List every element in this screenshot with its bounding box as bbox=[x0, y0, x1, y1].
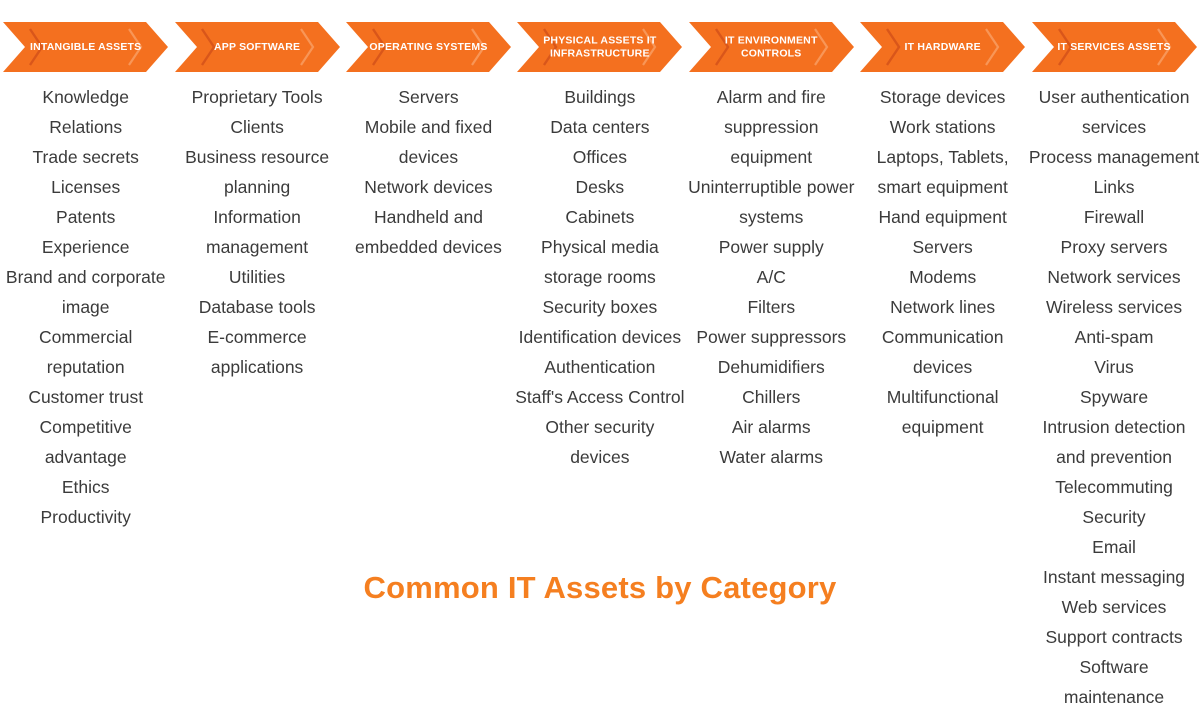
category-column: PHYSICAL ASSETS IT INFRASTRUCTUREBuildin… bbox=[514, 22, 685, 472]
list-item: Wireless services bbox=[1028, 292, 1199, 322]
list-item: Multifunctional equipment bbox=[857, 382, 1028, 442]
list-item: Physical media storage rooms bbox=[514, 232, 685, 292]
chevron-shape bbox=[346, 22, 511, 72]
list-item: Virus bbox=[1028, 352, 1199, 382]
category-item-list: BuildingsData centersOfficesDesksCabinet… bbox=[514, 82, 685, 472]
category-column: IT SERVICES ASSETSUser authentication se… bbox=[1028, 22, 1199, 712]
list-item: Competitive advantage bbox=[0, 412, 171, 472]
list-item: Alarm and fire suppression equipment bbox=[686, 82, 857, 172]
category-item-list: Proprietary ToolsClientsBusiness resourc… bbox=[171, 82, 342, 382]
list-item: Authentication bbox=[514, 352, 685, 382]
list-item: Modems bbox=[857, 262, 1028, 292]
list-item: Proxy servers bbox=[1028, 232, 1199, 262]
chevron-shape bbox=[175, 22, 340, 72]
category-header-chevron[interactable]: IT HARDWARE bbox=[860, 22, 1025, 72]
list-item: Trade secrets bbox=[0, 142, 171, 172]
list-item: Offices bbox=[514, 142, 685, 172]
page-title: Common IT Assets by Category bbox=[0, 570, 1200, 606]
list-item: Spyware bbox=[1028, 382, 1199, 412]
list-item: Air alarms bbox=[686, 412, 857, 442]
category-item-list: ServersMobile and fixed devicesNetwork d… bbox=[343, 82, 514, 262]
list-item: Other security devices bbox=[514, 412, 685, 472]
list-item: Firewall bbox=[1028, 202, 1199, 232]
list-item: Dehumidifiers bbox=[686, 352, 857, 382]
list-item: Security boxes bbox=[514, 292, 685, 322]
list-item: Experience bbox=[0, 232, 171, 262]
page-title-text: Common IT Assets by Category bbox=[364, 570, 837, 606]
list-item: Intrusion detection and prevention bbox=[1028, 412, 1199, 472]
category-item-list: User authentication servicesProcess mana… bbox=[1028, 82, 1199, 712]
list-item: Network services bbox=[1028, 262, 1199, 292]
category-header-chevron[interactable]: APP SOFTWARE bbox=[175, 22, 340, 72]
list-item: Desks bbox=[514, 172, 685, 202]
list-item: Laptops, Tablets, smart equipment bbox=[857, 142, 1028, 202]
list-item: Clients bbox=[171, 112, 342, 142]
category-header-chevron[interactable]: OPERATING SYSTEMS bbox=[346, 22, 511, 72]
list-item: Email bbox=[1028, 532, 1199, 562]
category-header-chevron[interactable]: IT ENVIRONMENT CONTROLS bbox=[689, 22, 854, 72]
list-item: Relations bbox=[0, 112, 171, 142]
list-item: Network lines bbox=[857, 292, 1028, 322]
list-item: E-commerce applications bbox=[171, 322, 342, 382]
chevron-shape bbox=[860, 22, 1025, 72]
list-item: Cabinets bbox=[514, 202, 685, 232]
list-item: Storage devices bbox=[857, 82, 1028, 112]
category-header-chevron[interactable]: INTANGIBLE ASSETS bbox=[3, 22, 168, 72]
list-item: Ethics bbox=[0, 472, 171, 502]
list-item: Data centers bbox=[514, 112, 685, 142]
list-item: Brand and corporate image bbox=[0, 262, 171, 322]
list-item: Uninterruptible power systems bbox=[686, 172, 857, 232]
list-item: Support contracts bbox=[1028, 622, 1199, 652]
chevron-shape bbox=[689, 22, 854, 72]
list-item: Database tools bbox=[171, 292, 342, 322]
list-item: Proprietary Tools bbox=[171, 82, 342, 112]
list-item: Servers bbox=[343, 82, 514, 112]
list-item: Links bbox=[1028, 172, 1199, 202]
category-column: APP SOFTWAREProprietary ToolsClientsBusi… bbox=[171, 22, 342, 382]
list-item: Anti-spam bbox=[1028, 322, 1199, 352]
list-item: Network devices bbox=[343, 172, 514, 202]
infographic-root: INTANGIBLE ASSETSKnowledgeRelationsTrade… bbox=[0, 0, 1200, 628]
category-column: IT HARDWAREStorage devicesWork stationsL… bbox=[857, 22, 1028, 442]
category-item-list: KnowledgeRelationsTrade secretsLicensesP… bbox=[0, 82, 171, 532]
category-column: OPERATING SYSTEMSServersMobile and fixed… bbox=[343, 22, 514, 262]
list-item: User authentication services bbox=[1028, 82, 1199, 142]
list-item: Identification devices bbox=[514, 322, 685, 352]
list-item: Water alarms bbox=[686, 442, 857, 472]
list-item: Buildings bbox=[514, 82, 685, 112]
list-item: Hand equipment bbox=[857, 202, 1028, 232]
list-item: Mobile and fixed devices bbox=[343, 112, 514, 172]
list-item: Security bbox=[1028, 502, 1199, 532]
list-item: Patents bbox=[0, 202, 171, 232]
list-item: Utilities bbox=[171, 262, 342, 292]
list-item: Staff's Access Control bbox=[514, 382, 685, 412]
category-item-list: Alarm and fire suppression equipmentUnin… bbox=[686, 82, 857, 472]
list-item: Work stations bbox=[857, 112, 1028, 142]
list-item: Process management bbox=[1028, 142, 1199, 172]
list-item: Productivity bbox=[0, 502, 171, 532]
category-header-chevron[interactable]: IT SERVICES ASSETS bbox=[1032, 22, 1197, 72]
list-item: Filters bbox=[686, 292, 857, 322]
chevron-shape bbox=[3, 22, 168, 72]
list-item: Customer trust bbox=[0, 382, 171, 412]
list-item: Communication devices bbox=[857, 322, 1028, 382]
list-item: Servers bbox=[857, 232, 1028, 262]
list-item: Handheld and embedded devices bbox=[343, 202, 514, 262]
category-item-list: Storage devicesWork stationsLaptops, Tab… bbox=[857, 82, 1028, 442]
list-item: Knowledge bbox=[0, 82, 171, 112]
list-item: Commercial reputation bbox=[0, 322, 171, 382]
chevron-shape bbox=[1032, 22, 1197, 72]
chevron-shape bbox=[517, 22, 682, 72]
list-item: A/C bbox=[686, 262, 857, 292]
list-item: Power suppressors bbox=[686, 322, 857, 352]
category-column: IT ENVIRONMENT CONTROLSAlarm and fire su… bbox=[686, 22, 857, 472]
category-column: INTANGIBLE ASSETSKnowledgeRelationsTrade… bbox=[0, 22, 171, 532]
list-item: Licenses bbox=[0, 172, 171, 202]
category-header-chevron[interactable]: PHYSICAL ASSETS IT INFRASTRUCTURE bbox=[517, 22, 682, 72]
list-item: Telecommuting bbox=[1028, 472, 1199, 502]
list-item: Business resource planning bbox=[171, 142, 342, 202]
list-item: Software maintenance bbox=[1028, 652, 1199, 712]
list-item: Information management bbox=[171, 202, 342, 262]
list-item: Chillers bbox=[686, 382, 857, 412]
list-item: Power supply bbox=[686, 232, 857, 262]
